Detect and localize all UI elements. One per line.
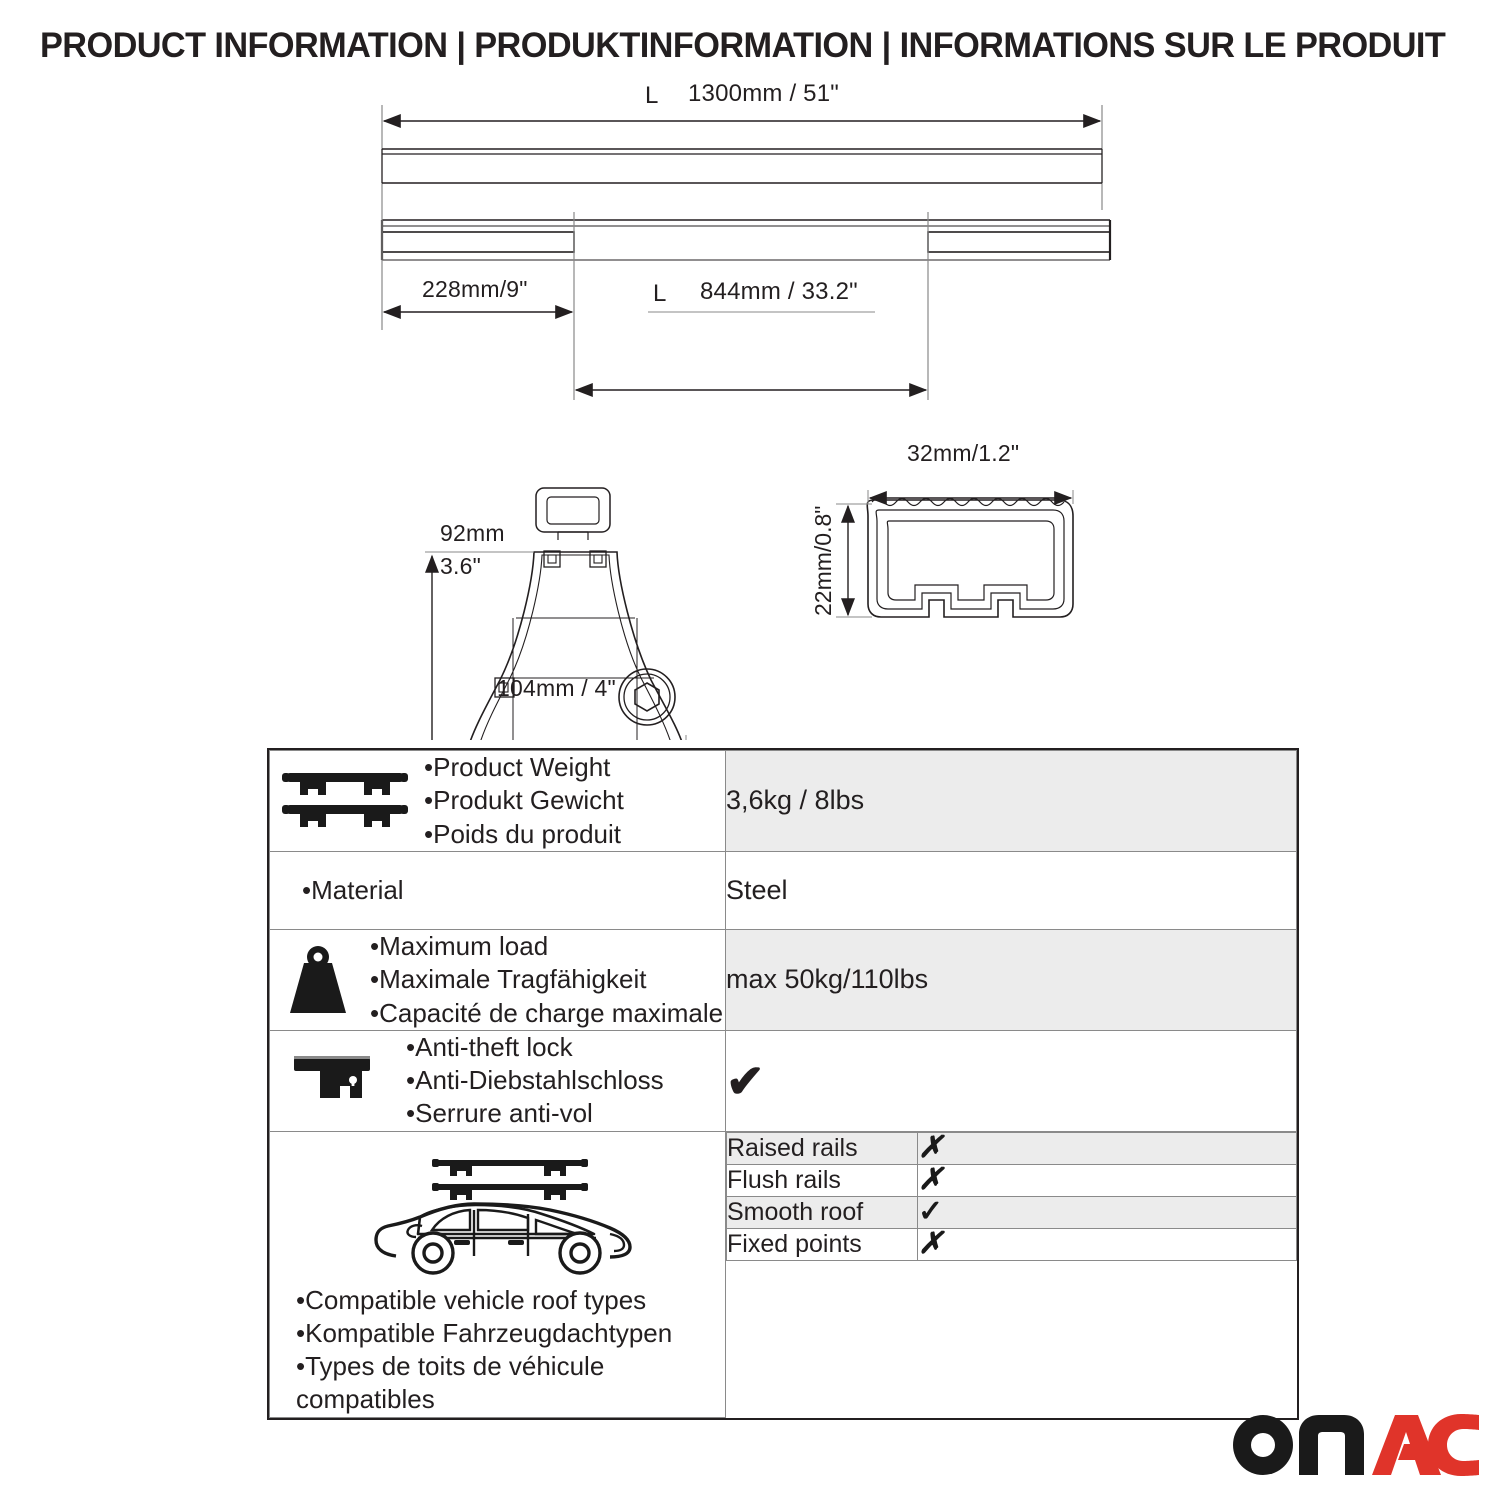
label-line-fr: •Capacité de charge maximale xyxy=(370,997,723,1030)
row-label-text: •Product Weight •Produkt Gewicht •Poids … xyxy=(424,751,624,851)
row-label-cell: •Material xyxy=(270,851,726,929)
drawing-svg xyxy=(0,80,1500,740)
roof-types-cell: Raised rails ✗ Flush rails ✗ xyxy=(726,1131,1297,1417)
table-row-material: •Material Steel xyxy=(270,851,1297,929)
roof-type-row-smooth-roof: Smooth roof ✓ xyxy=(727,1196,1297,1228)
roof-type-label: Smooth roof xyxy=(727,1196,918,1228)
row-label-cell: •Compatible vehicle roof types •Kompatib… xyxy=(270,1131,726,1417)
label-line-fr: •Serrure anti-vol xyxy=(406,1097,664,1130)
roof-type-value: ✗ xyxy=(918,1228,1297,1260)
bar-length-label: L xyxy=(645,82,659,110)
profile-width-value: 32mm/1.2" xyxy=(907,440,1019,467)
table-row-maximum-load: •Maximum load •Maximale Tragfähigkeit •C… xyxy=(270,930,1297,1031)
label-line-en: •Product Weight xyxy=(424,751,624,784)
label-line-en: •Anti-theft lock xyxy=(406,1031,664,1064)
row-label-text: •Anti-theft lock •Anti-Diebstahlschloss … xyxy=(406,1031,664,1131)
row-label-cell: •Maximum load •Maximale Tragfähigkeit •C… xyxy=(270,930,726,1031)
label-line-de: •Produkt Gewicht xyxy=(424,784,624,817)
roof-type-row-raised-rails: Raised rails ✗ xyxy=(727,1132,1297,1164)
span-label: L xyxy=(653,280,667,308)
cross-icon: ✗ xyxy=(918,1227,943,1260)
label-line-de: •Maximale Tragfähigkeit xyxy=(370,963,723,996)
row-label-cell: •Product Weight •Produkt Gewicht •Poids … xyxy=(270,751,726,852)
roof-type-label: Fixed points xyxy=(727,1228,918,1260)
roof-type-value: ✓ xyxy=(918,1196,1297,1228)
page-title: PRODUCT INFORMATION | PRODUKTINFORMATION… xyxy=(40,26,1441,66)
cross-icon: ✗ xyxy=(918,1163,943,1196)
logo-letter-o xyxy=(1233,1415,1293,1475)
table-row-roof-types: •Compatible vehicle roof types •Kompatib… xyxy=(270,1131,1297,1417)
tower-height-value-line2: 3.6" xyxy=(440,553,481,580)
label-line-en: •Compatible vehicle roof types xyxy=(296,1284,725,1317)
row-value-maximum-load: max 50kg/110lbs xyxy=(726,930,1297,1031)
tower-height-value-line1: 92mm xyxy=(440,520,505,547)
row-label-text: •Compatible vehicle roof types •Kompatib… xyxy=(270,1284,725,1417)
span-value: 844mm / 33.2" xyxy=(700,278,858,306)
cross-icon: ✗ xyxy=(918,1131,943,1164)
foot-offset-value: 228mm/9" xyxy=(422,276,528,303)
lock-icon xyxy=(270,1052,402,1110)
table-row-product-weight: •Product Weight •Produkt Gewicht •Poids … xyxy=(270,751,1297,852)
roof-type-row-fixed-points: Fixed points ✗ xyxy=(727,1228,1297,1260)
label-line-de: •Anti-Diebstahlschloss xyxy=(406,1064,664,1097)
crossbars-icon xyxy=(270,769,420,833)
label-line-en: •Maximum load xyxy=(370,930,723,963)
specification-table: •Product Weight •Produkt Gewicht •Poids … xyxy=(267,748,1299,1420)
tower-width-value: 104mm / 4" xyxy=(497,675,616,702)
check-icon: ✓ xyxy=(918,1195,943,1228)
logo-letter-m xyxy=(1299,1415,1364,1475)
row-label-text: •Maximum load •Maximale Tragfähigkeit •C… xyxy=(370,930,723,1030)
roof-type-label: Flush rails xyxy=(727,1164,918,1196)
profile-height-value: 22mm/0.8" xyxy=(810,506,837,616)
table-row-anti-theft-lock: •Anti-theft lock •Anti-Diebstahlschloss … xyxy=(270,1030,1297,1131)
bar-length-value: 1300mm / 51" xyxy=(688,80,839,108)
label-line-fr: •Types de toits de véhicule compatibles xyxy=(296,1350,696,1417)
roof-type-value: ✗ xyxy=(918,1164,1297,1196)
product-information-sheet: PRODUCT INFORMATION | PRODUKTINFORMATION… xyxy=(0,0,1500,1500)
check-icon: ✔ xyxy=(726,1055,765,1107)
row-label-cell: •Anti-theft lock •Anti-Diebstahlschloss … xyxy=(270,1030,726,1131)
weight-icon xyxy=(270,943,366,1017)
label-line-fr: •Poids du produit xyxy=(424,818,624,851)
label-line-en: •Material xyxy=(302,874,725,907)
omac-logo xyxy=(1232,1414,1480,1476)
roof-type-value: ✗ xyxy=(918,1132,1297,1164)
row-value-product-weight: 3,6kg / 8lbs xyxy=(726,751,1297,852)
car-with-rack-icon xyxy=(270,1148,725,1284)
label-line-de: •Kompatible Fahrzeugdachtypen xyxy=(296,1317,725,1350)
roof-type-label: Raised rails xyxy=(727,1132,918,1164)
omac-logo-svg xyxy=(1232,1414,1480,1476)
roof-types-subtable: Raised rails ✗ Flush rails ✗ xyxy=(726,1132,1297,1261)
row-value-anti-theft-lock: ✔ xyxy=(726,1030,1297,1131)
row-label-text: •Material xyxy=(270,874,725,907)
technical-drawing: L 1300mm / 51" 228mm/9" L 844mm / 33.2" … xyxy=(0,80,1500,740)
row-value-material: Steel xyxy=(726,851,1297,929)
roof-type-row-flush-rails: Flush rails ✗ xyxy=(727,1164,1297,1196)
